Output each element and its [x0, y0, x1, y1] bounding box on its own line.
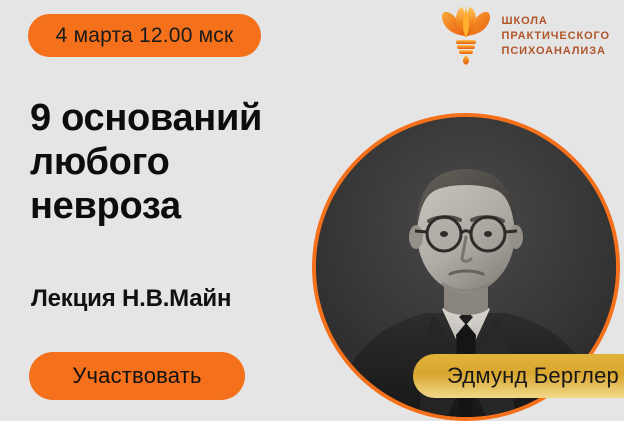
- speaker-name-badge: Эдмунд Берглер: [413, 354, 624, 398]
- date-badge-label: 4 марта 12.00 мск: [56, 24, 234, 48]
- headline-line-1: 9 оснований: [30, 96, 330, 140]
- brand-logo-text: ШКОЛА ПРАКТИЧЕСКОГО ПСИХОАНАЛИЗА: [502, 12, 610, 58]
- participate-button[interactable]: Участвовать: [29, 352, 245, 400]
- logo-text-line-2: ПРАКТИЧЕСКОГО: [502, 30, 610, 43]
- speaker-name-label: Эдмунд Берглер: [447, 363, 619, 389]
- flame-lily-logo-icon: [437, 4, 495, 66]
- webinar-announcement-poster: 4 марта 12.00 мск: [0, 0, 624, 421]
- date-badge: 4 марта 12.00 мск: [28, 14, 261, 57]
- headline-line-3: невроза: [30, 184, 330, 228]
- logo-text-line-3: ПСИХОАНАЛИЗА: [502, 45, 610, 58]
- brand-logo: ШКОЛА ПРАКТИЧЕСКОГО ПСИХОАНАЛИЗА: [437, 4, 610, 66]
- lecture-subtitle: Лекция Н.В.Майн: [31, 285, 231, 313]
- headline-line-2: любого: [30, 140, 330, 184]
- logo-text-line-1: ШКОЛА: [502, 15, 610, 28]
- page-title: 9 оснований любого невроза: [30, 96, 330, 228]
